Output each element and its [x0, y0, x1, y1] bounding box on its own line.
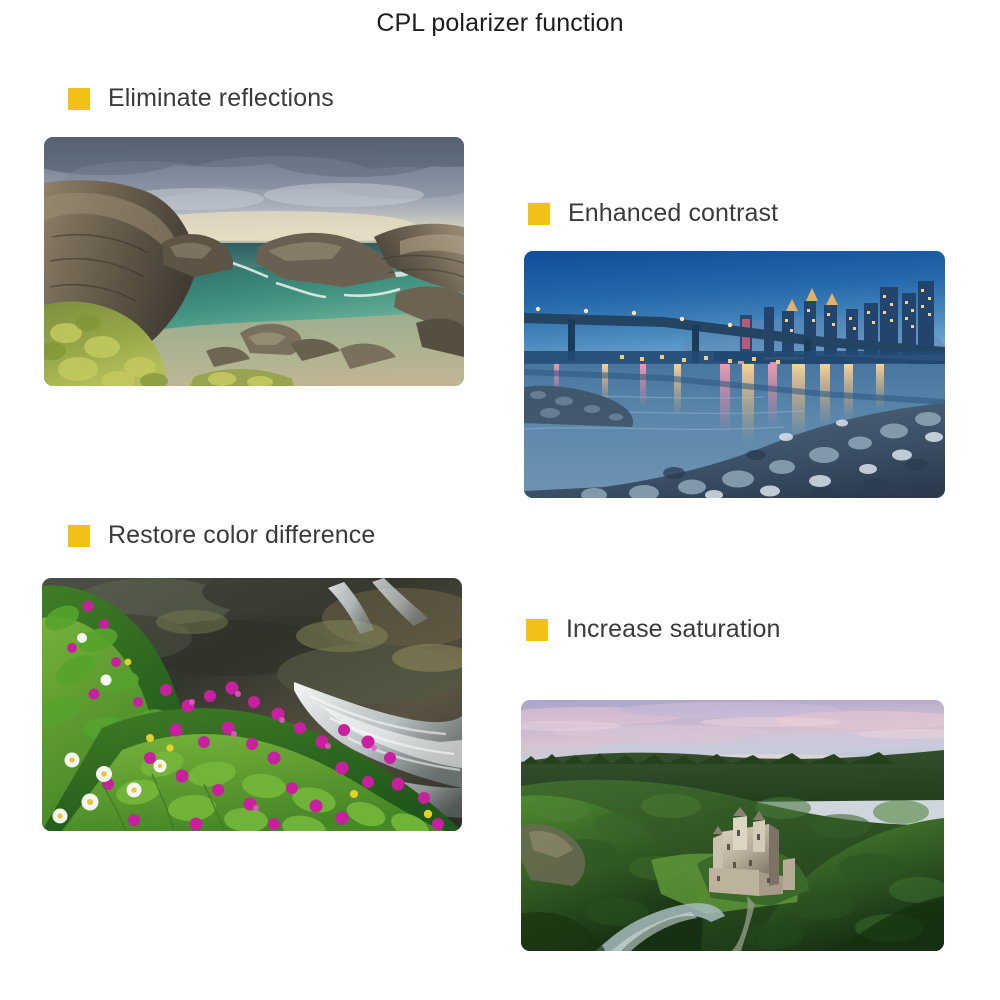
- feature-title: Increase saturation: [566, 615, 781, 644]
- castle-valley-photo: [521, 700, 944, 951]
- city-bridge-night-photo: [524, 251, 945, 498]
- flowers-stream-illustration: [42, 578, 462, 831]
- city-bridge-night-illustration: [524, 251, 945, 498]
- square-bullet-icon: [68, 88, 90, 110]
- square-bullet-icon: [528, 203, 550, 225]
- feature-label-eliminate-reflections: Eliminate reflections: [68, 84, 334, 113]
- castle-valley-illustration: [521, 700, 944, 951]
- page-title: CPL polarizer function: [0, 9, 1000, 38]
- feature-label-enhanced-contrast: Enhanced contrast: [528, 199, 778, 228]
- coastal-cove-illustration: [44, 137, 464, 386]
- feature-title: Enhanced contrast: [568, 199, 778, 228]
- feature-label-increase-saturation: Increase saturation: [526, 615, 781, 644]
- feature-label-restore-color-difference: Restore color difference: [68, 521, 375, 550]
- coastal-cove-photo: [44, 137, 464, 386]
- square-bullet-icon: [68, 525, 90, 547]
- flowers-stream-photo: [42, 578, 462, 831]
- feature-title: Eliminate reflections: [108, 84, 334, 113]
- square-bullet-icon: [526, 619, 548, 641]
- feature-title: Restore color difference: [108, 521, 375, 550]
